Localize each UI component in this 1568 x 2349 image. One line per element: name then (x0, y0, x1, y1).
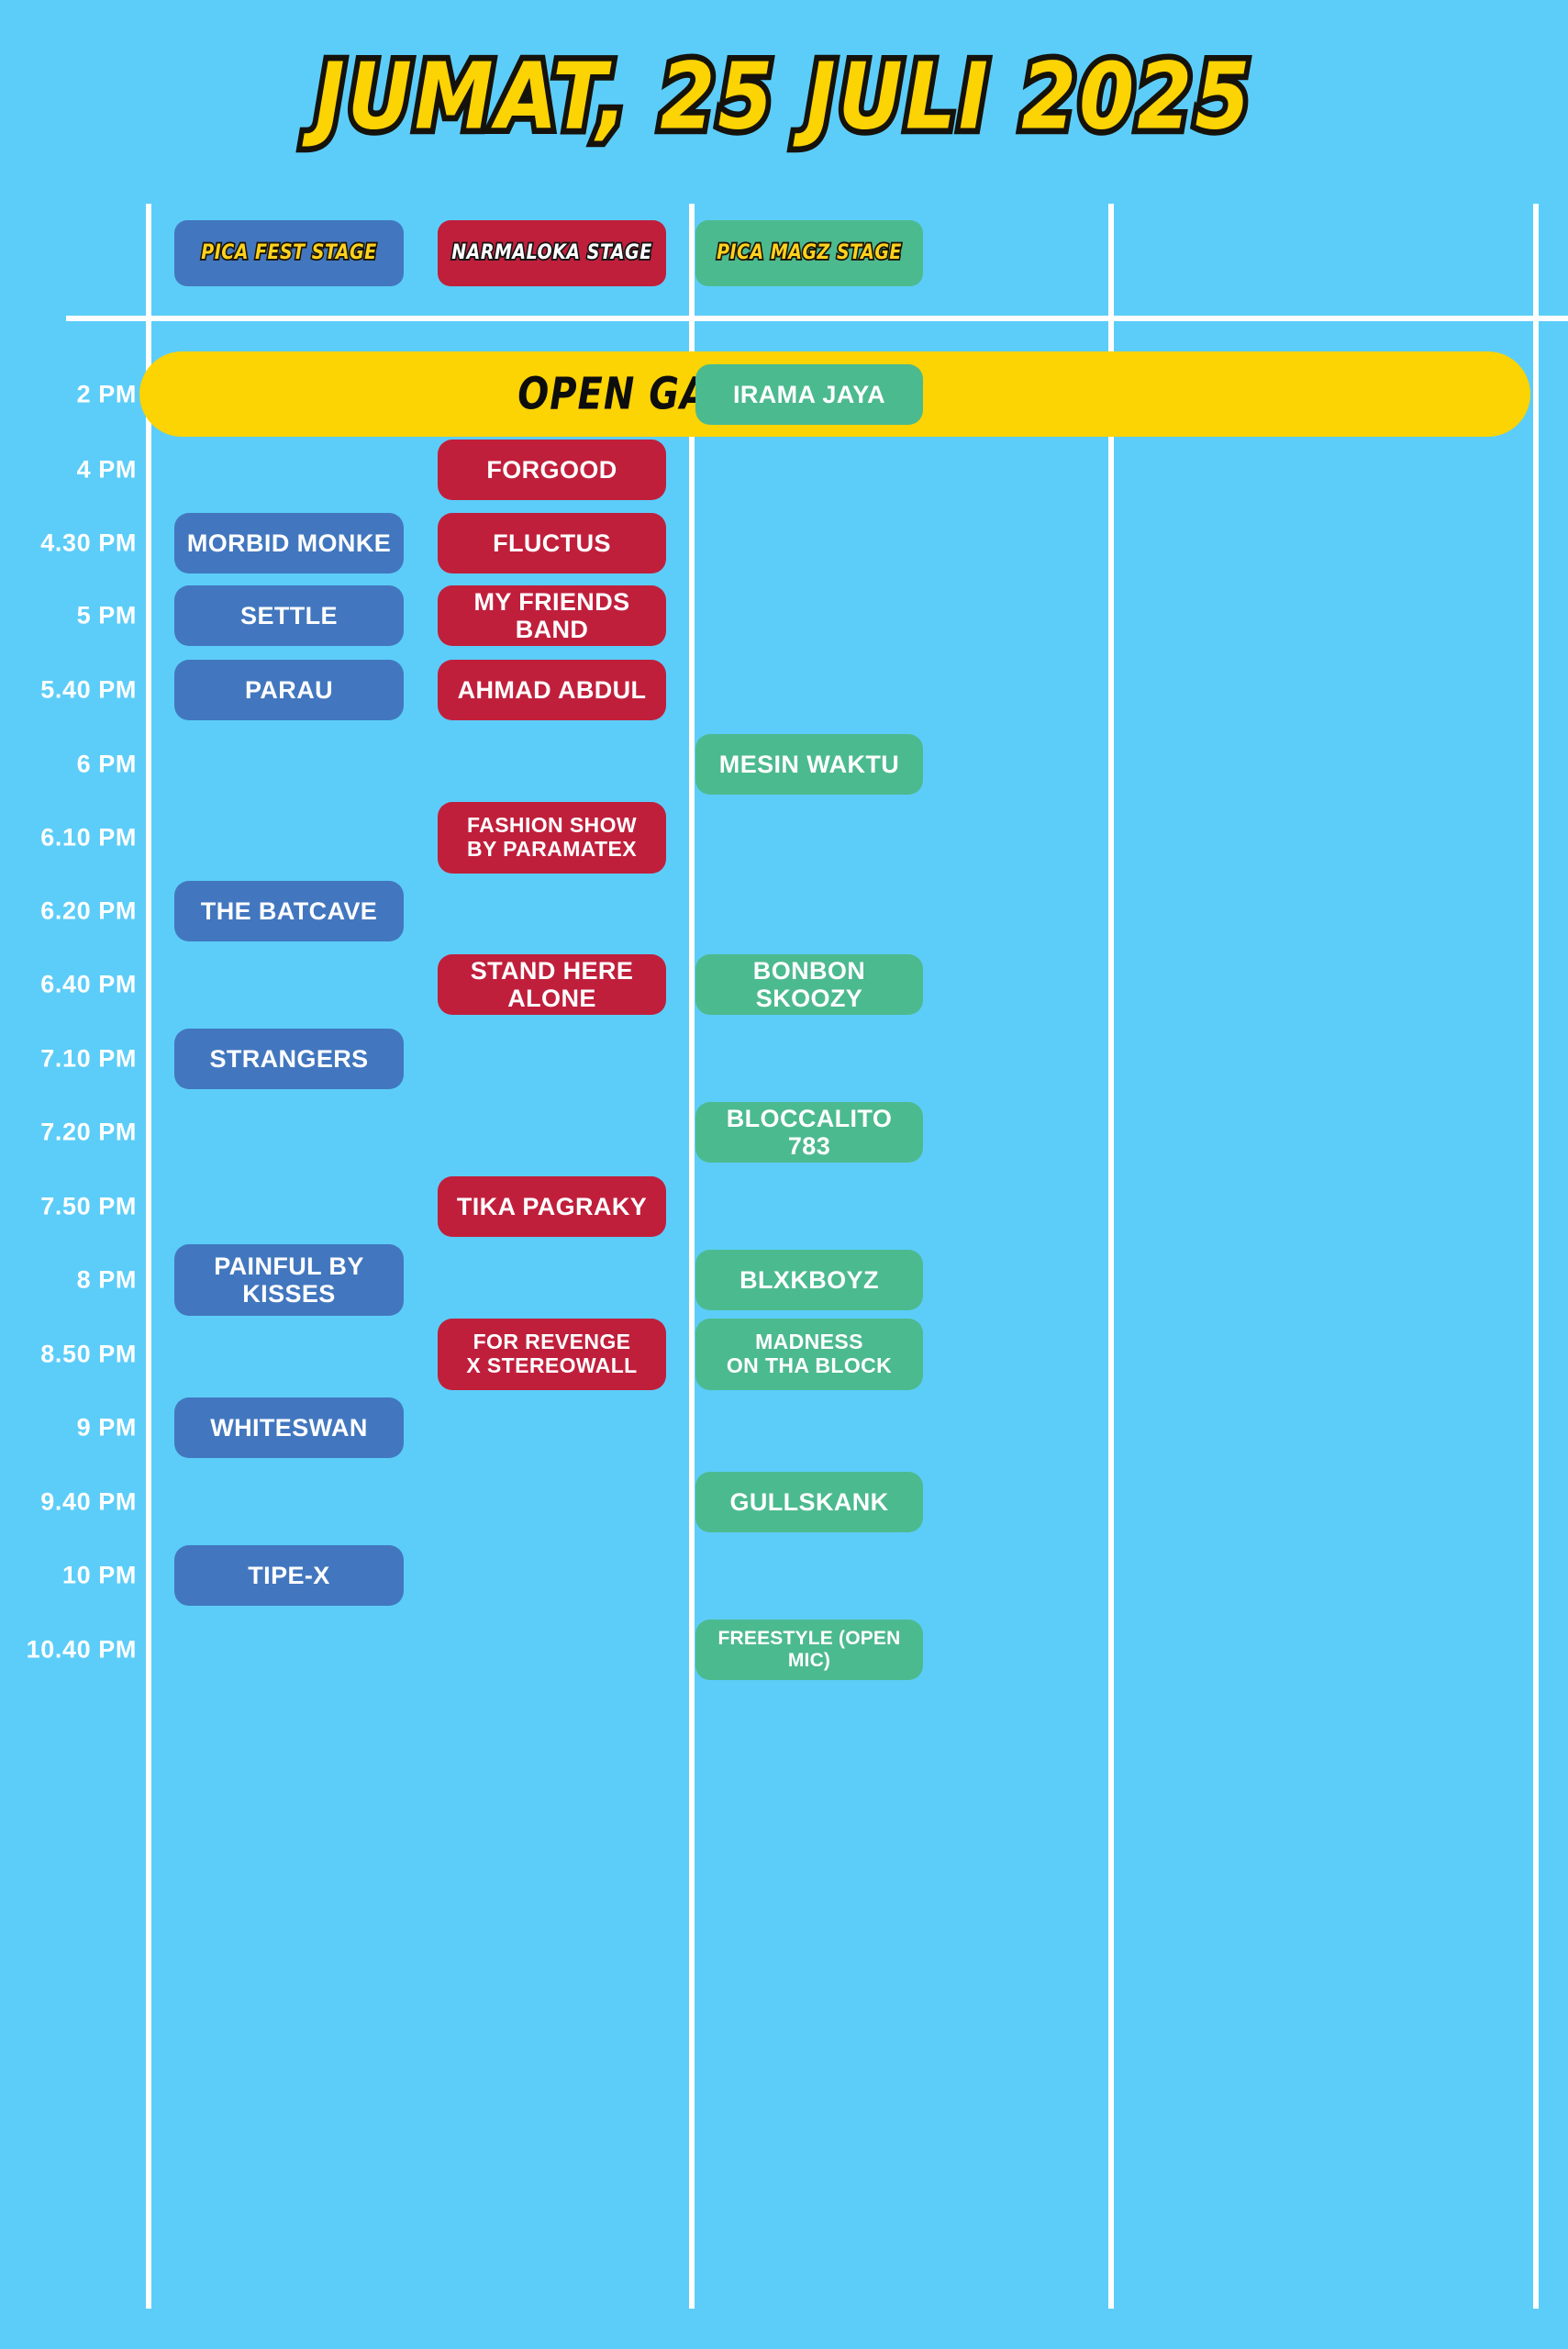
time-label: 5 PM (0, 602, 137, 630)
festival-schedule-poster: JUMAT, 25 JULI 2025 PICA FEST STAGE NARM… (0, 0, 1568, 2349)
act-card-pica-fest[interactable]: PARAU (174, 660, 404, 720)
act-card-narmaloka[interactable]: FASHION SHOW BY PARAMATEX (438, 802, 666, 874)
act-card-pica-fest[interactable]: MORBID MONKE (174, 513, 404, 573)
time-label: 9.40 PM (0, 1488, 137, 1517)
act-card-pica-magz[interactable]: FREESTYLE (OPEN MIC) (695, 1620, 923, 1680)
time-label: 6.40 PM (0, 971, 137, 999)
act-card-narmaloka[interactable]: FORGOOD (438, 440, 666, 500)
act-card-pica-magz[interactable]: GULLSKANK (695, 1472, 923, 1532)
act-card-pica-magz[interactable]: MADNESS ON THA BLOCK (695, 1319, 923, 1390)
time-label: 7.20 PM (0, 1119, 137, 1147)
grid-divider-line-3 (1108, 204, 1114, 2309)
time-label: 8.50 PM (0, 1341, 137, 1369)
stage-header-pica-fest[interactable]: PICA FEST STAGE (174, 220, 404, 286)
stage-header-narmaloka[interactable]: NARMALOKA STAGE (438, 220, 666, 286)
stage-header-label: PICA FEST STAGE (201, 242, 376, 264)
act-card-pica-magz[interactable]: BONBON SKOOZY (695, 954, 923, 1015)
act-card-pica-fest[interactable]: PAINFUL BY KISSES (174, 1244, 404, 1316)
grid-divider-line-1 (146, 204, 151, 2309)
act-card-narmaloka[interactable]: FOR REVENGE X STEREOWALL (438, 1319, 666, 1390)
poster-title: JUMAT, 25 JULI 2025 (316, 44, 1253, 150)
act-card-pica-magz[interactable]: IRAMA JAYA (695, 364, 923, 425)
act-card-narmaloka[interactable]: MY FRIENDS BAND (438, 585, 666, 646)
time-label: 6 PM (0, 751, 137, 779)
act-card-narmaloka[interactable]: STAND HERE ALONE (438, 954, 666, 1015)
act-card-pica-magz[interactable]: BLXKBOYZ (695, 1250, 923, 1310)
act-card-pica-fest[interactable]: TIPE-X (174, 1545, 404, 1606)
act-card-pica-fest[interactable]: STRANGERS (174, 1029, 404, 1089)
time-label: 7.50 PM (0, 1193, 137, 1221)
poster-title-container: JUMAT, 25 JULI 2025 (0, 44, 1568, 131)
act-card-pica-fest[interactable]: WHITESWAN (174, 1397, 404, 1458)
stage-header-label: PICA MAGZ STAGE (717, 242, 902, 264)
act-card-pica-magz[interactable]: MESIN WAKTU (695, 734, 923, 795)
time-label: 7.10 PM (0, 1045, 137, 1074)
time-label: 6.20 PM (0, 897, 137, 926)
time-label: 4.30 PM (0, 529, 137, 558)
time-label: 8 PM (0, 1266, 137, 1295)
time-label: 2 PM (0, 381, 137, 409)
stage-header-pica-magz[interactable]: PICA MAGZ STAGE (695, 220, 923, 286)
time-label: 9 PM (0, 1414, 137, 1442)
stage-header-label: NARMALOKA STAGE (451, 242, 651, 264)
time-label: 10.40 PM (0, 1636, 137, 1664)
time-label: 10 PM (0, 1562, 137, 1590)
act-card-narmaloka[interactable]: TIKA PAGRAKY (438, 1176, 666, 1237)
act-card-pica-magz[interactable]: BLOCCALITO 783 (695, 1102, 923, 1163)
act-card-narmaloka[interactable]: AHMAD ABDUL (438, 660, 666, 720)
time-label: 4 PM (0, 456, 137, 484)
grid-divider-line-4 (1533, 204, 1539, 2309)
grid-divider-line-2 (689, 204, 695, 2309)
time-label: 6.10 PM (0, 824, 137, 852)
header-underline (66, 316, 1568, 321)
act-card-narmaloka[interactable]: FLUCTUS (438, 513, 666, 573)
act-card-pica-fest[interactable]: THE BATCAVE (174, 881, 404, 941)
act-card-pica-fest[interactable]: SETTLE (174, 585, 404, 646)
time-label: 5.40 PM (0, 676, 137, 705)
